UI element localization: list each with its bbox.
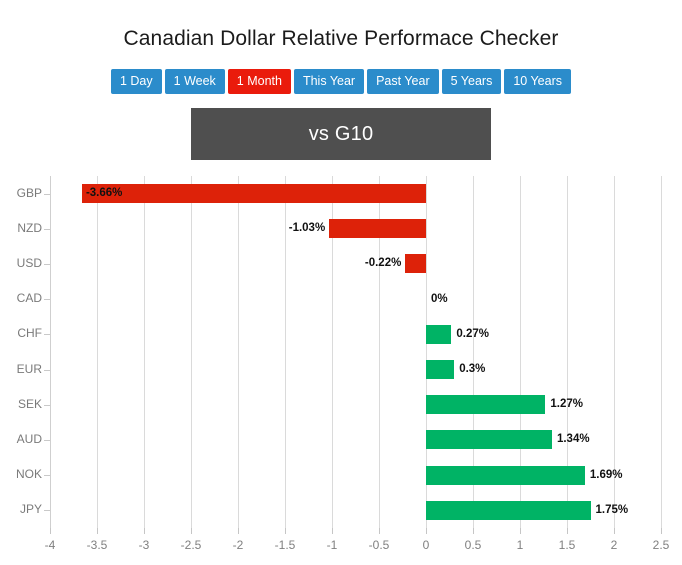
x-tick-mark: [50, 528, 51, 534]
x-axis-tick-label: 0.5: [465, 538, 482, 552]
bar-jpy[interactable]: [426, 501, 591, 520]
x-axis-tick-label: 0: [423, 538, 430, 552]
x-axis-tick-label: -2: [233, 538, 244, 552]
x-axis-tick-label: -2.5: [181, 538, 202, 552]
y-axis-label-sek: SEK: [0, 397, 42, 411]
bar-value-label: 1.75%: [596, 502, 629, 519]
x-axis-tick-label: -3.5: [87, 538, 108, 552]
y-axis-label-chf: CHF: [0, 326, 42, 340]
period-button-past-year[interactable]: Past Year: [367, 69, 439, 94]
x-tick-mark: [520, 528, 521, 534]
bar-sek[interactable]: [426, 395, 545, 414]
bar-value-label: -3.66%: [86, 185, 122, 202]
y-axis-label-jpy: JPY: [0, 502, 42, 516]
x-tick-mark: [661, 528, 662, 534]
performance-bar-chart: -3.66%-1.03%-0.22%0%0.27%0.3%1.27%1.34%1…: [0, 172, 682, 565]
chart-row: 0%: [50, 282, 661, 317]
comparison-banner: vs G10: [191, 108, 491, 160]
bar-value-label: -0.22%: [365, 255, 401, 272]
y-axis-label-cad: CAD: [0, 291, 42, 305]
x-axis-tick-label: 2.5: [653, 538, 670, 552]
chart-row: 0.27%: [50, 317, 661, 352]
bar-value-label: 0.27%: [456, 326, 489, 343]
x-axis-tick-label: -3: [139, 538, 150, 552]
period-button-10-years[interactable]: 10 Years: [504, 69, 571, 94]
x-tick-mark: [379, 528, 380, 534]
x-tick-mark: [238, 528, 239, 534]
x-axis-tick-label: 2: [611, 538, 618, 552]
bar-eur[interactable]: [426, 360, 454, 379]
x-tick-mark: [191, 528, 192, 534]
x-axis-tick-label: -0.5: [369, 538, 390, 552]
x-axis-tick-label: -1.5: [275, 538, 296, 552]
chart-row: 0.3%: [50, 352, 661, 387]
x-tick-mark: [426, 528, 427, 534]
y-axis-label-nzd: NZD: [0, 221, 42, 235]
x-tick-mark: [614, 528, 615, 534]
period-selector: 1 Day1 Week1 MonthThis YearPast Year5 Ye…: [0, 69, 682, 94]
bar-value-label: -1.03%: [289, 220, 325, 237]
y-axis-label-aud: AUD: [0, 432, 42, 446]
x-axis-tick-label: 1: [517, 538, 524, 552]
bar-value-label: 1.27%: [550, 396, 583, 413]
x-tick-mark: [144, 528, 145, 534]
x-tick-mark: [473, 528, 474, 534]
x-axis-tick-label: 1.5: [559, 538, 576, 552]
bar-nzd[interactable]: [329, 219, 426, 238]
bar-value-label: 0.3%: [459, 361, 485, 378]
chart-row: 1.75%: [50, 493, 661, 528]
bar-nok[interactable]: [426, 466, 585, 485]
x-gridline: [661, 176, 662, 528]
chart-row: 1.69%: [50, 458, 661, 493]
y-axis-label-usd: USD: [0, 256, 42, 270]
chart-row: 1.27%: [50, 387, 661, 422]
bar-chf[interactable]: [426, 325, 451, 344]
x-tick-mark: [332, 528, 333, 534]
y-axis-label-gbp: GBP: [0, 186, 42, 200]
chart-row: -1.03%: [50, 211, 661, 246]
bar-aud[interactable]: [426, 430, 552, 449]
y-axis-label-nok: NOK: [0, 467, 42, 481]
bar-value-label: 0%: [431, 291, 448, 308]
bar-usd[interactable]: [405, 254, 426, 273]
plot-area: -3.66%-1.03%-0.22%0%0.27%0.3%1.27%1.34%1…: [50, 176, 661, 528]
x-axis-tick-label: -4: [45, 538, 56, 552]
bar-value-label: 1.69%: [590, 467, 623, 484]
period-button-this-year[interactable]: This Year: [294, 69, 364, 94]
y-axis-label-eur: EUR: [0, 362, 42, 376]
x-tick-mark: [97, 528, 98, 534]
x-tick-mark: [285, 528, 286, 534]
page-title: Canadian Dollar Relative Performace Chec…: [0, 27, 682, 51]
x-tick-mark: [567, 528, 568, 534]
bar-value-label: 1.34%: [557, 431, 590, 448]
chart-row: -3.66%: [50, 176, 661, 211]
bar-gbp[interactable]: [82, 184, 426, 203]
chart-row: 1.34%: [50, 422, 661, 457]
period-button-5-years[interactable]: 5 Years: [442, 69, 502, 94]
period-button-1-day[interactable]: 1 Day: [111, 69, 162, 94]
x-axis-tick-label: -1: [327, 538, 338, 552]
period-button-1-month[interactable]: 1 Month: [228, 69, 291, 94]
chart-row: -0.22%: [50, 246, 661, 281]
period-button-1-week[interactable]: 1 Week: [165, 69, 225, 94]
